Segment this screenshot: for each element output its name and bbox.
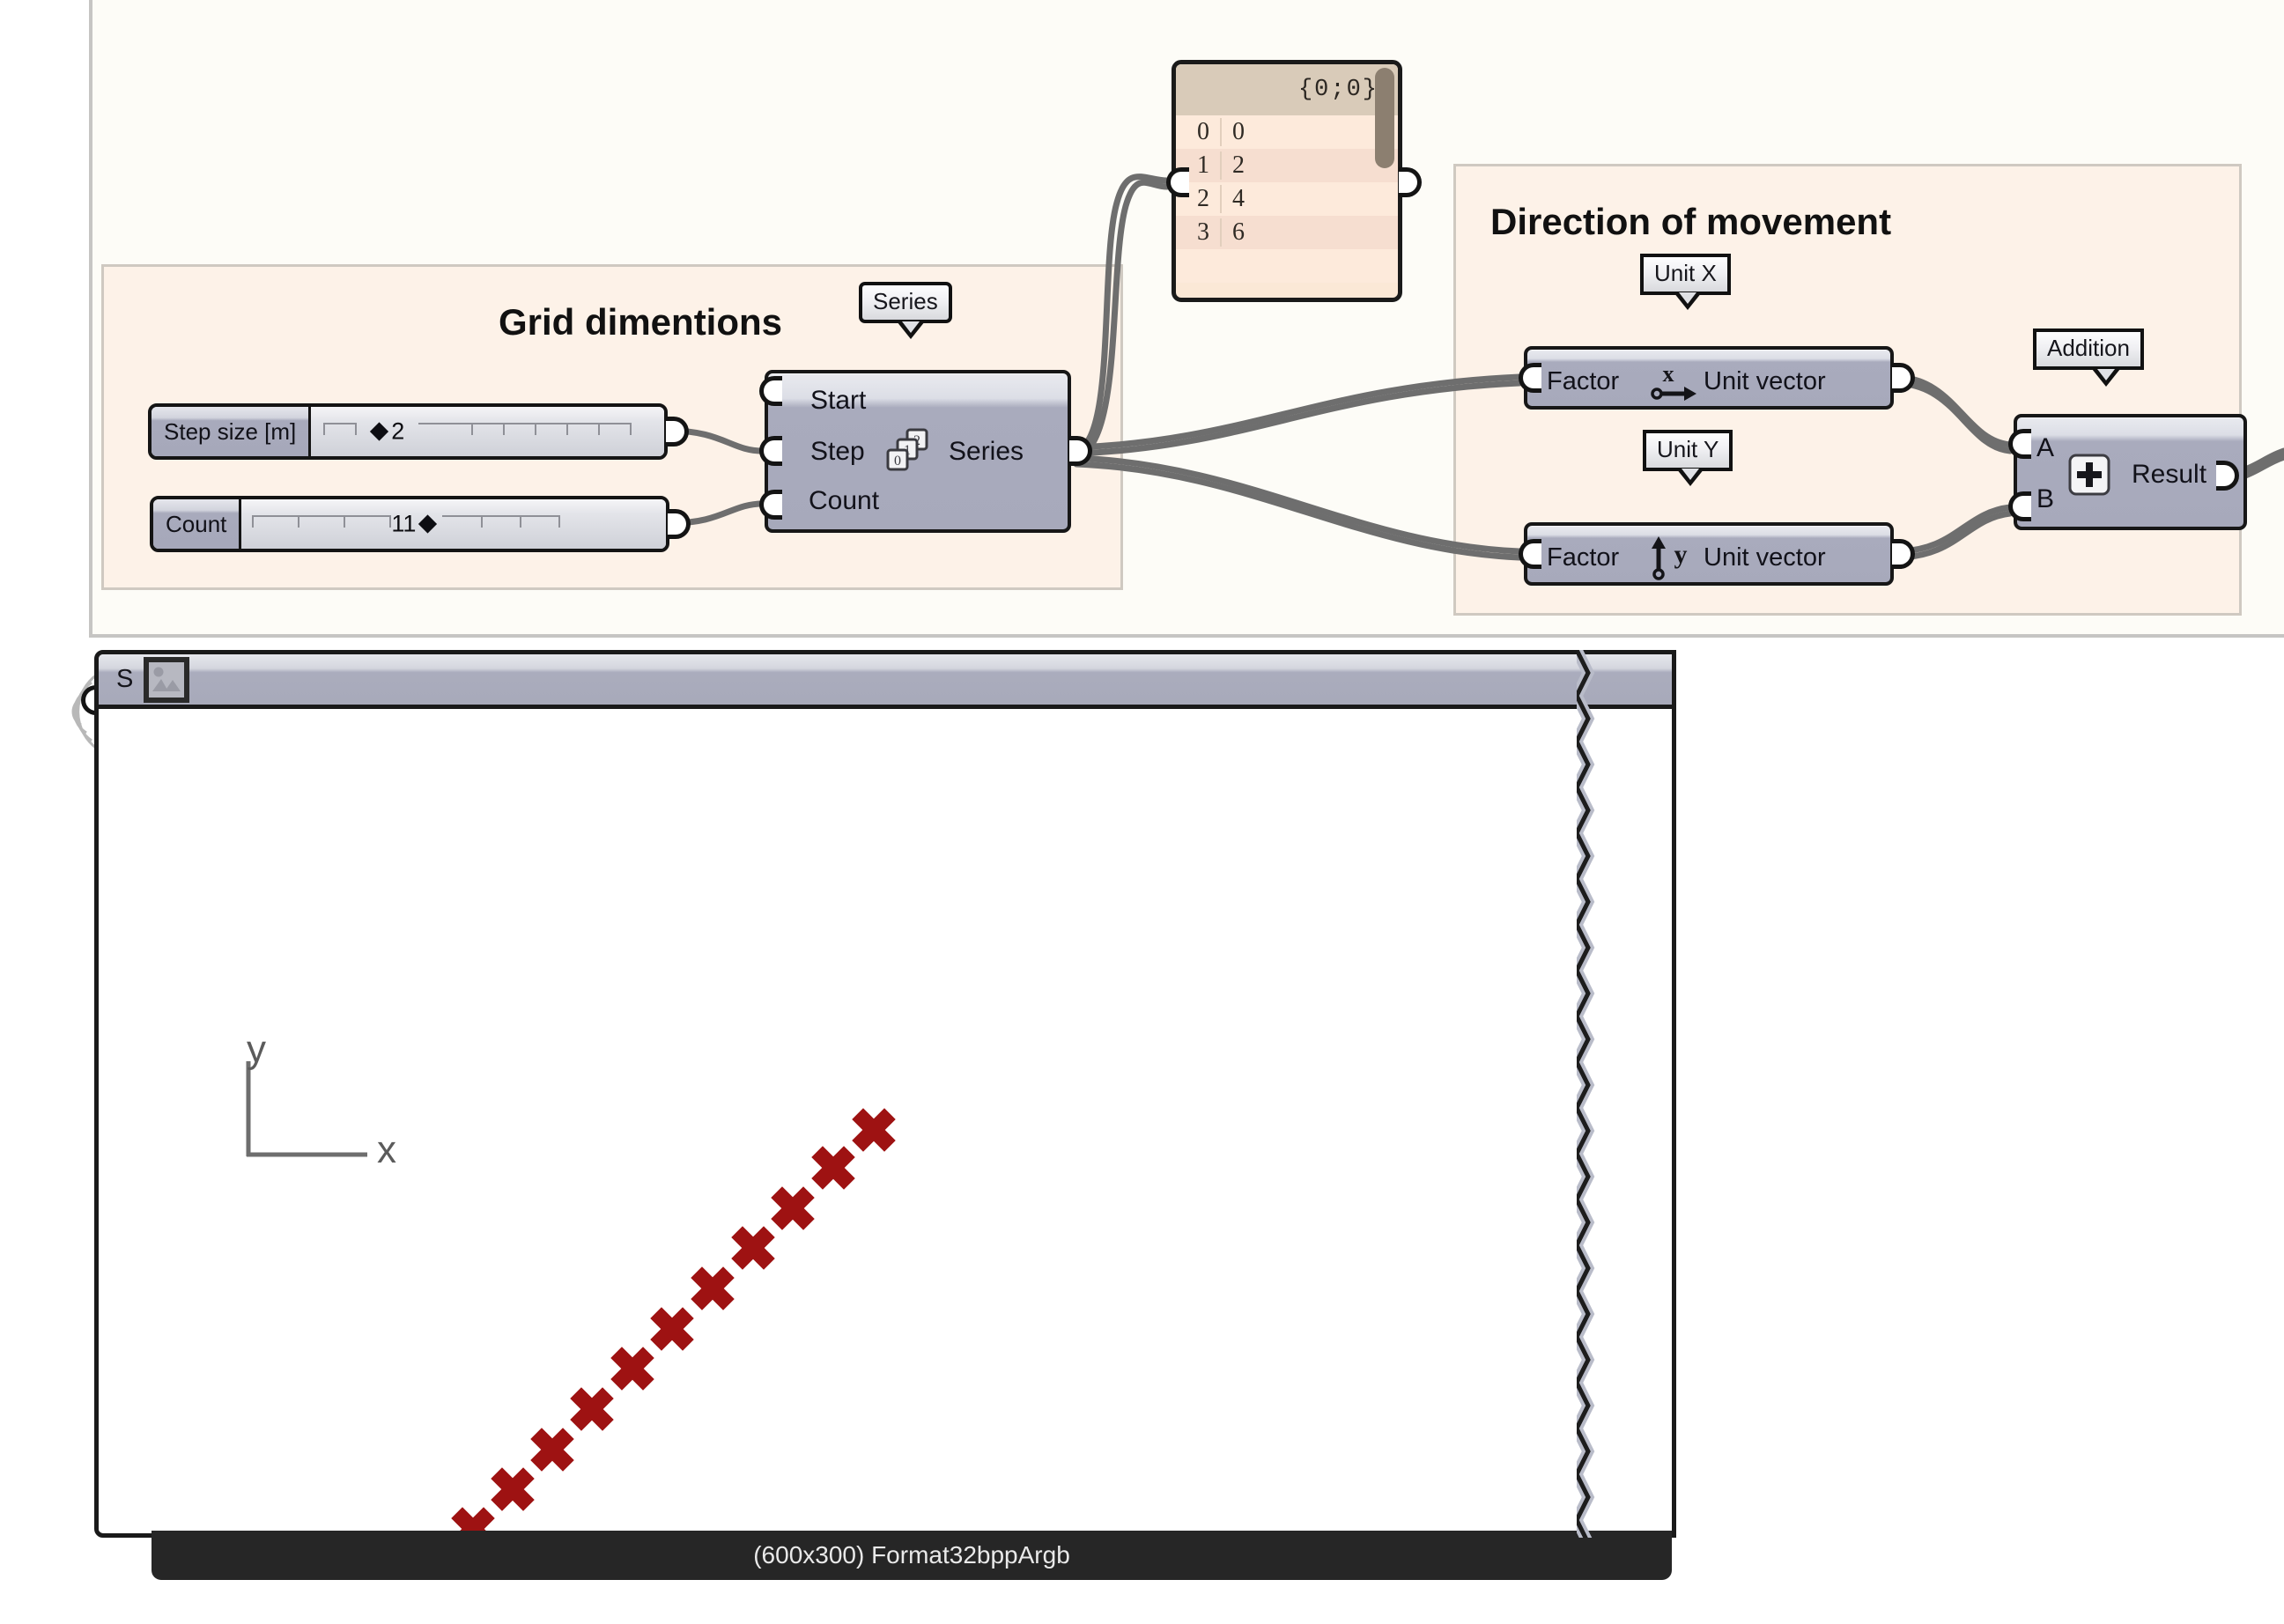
panel-row-value: 0 bbox=[1222, 118, 1245, 146]
scatter-marker bbox=[771, 1186, 815, 1230]
series-nickname-label: Series bbox=[873, 288, 938, 314]
slider-step-size-value: 2 bbox=[391, 418, 404, 446]
screenshot-root: Grid dimentions Direction of movement bbox=[0, 0, 2284, 1624]
panel-row-index: 0 bbox=[1176, 118, 1222, 146]
slider-count[interactable]: Count 11 bbox=[150, 496, 669, 552]
slider-tick bbox=[471, 423, 503, 424]
slider-count-track[interactable]: 11 bbox=[241, 499, 666, 549]
slider-tick bbox=[566, 423, 568, 435]
slider-step-size-label: Step size [m] bbox=[152, 407, 311, 456]
series-input-start: Start bbox=[810, 386, 866, 416]
unit-y-input-factor: Factor bbox=[1547, 543, 1619, 572]
series-input-step: Step bbox=[810, 437, 865, 467]
addition-nickname-tail bbox=[2092, 369, 2120, 387]
addition-nickname-label: Addition bbox=[2047, 335, 2130, 361]
slider-tick bbox=[503, 423, 535, 424]
viewer-status-text: (600x300) Format32bppArgb bbox=[753, 1541, 1070, 1569]
viewer-status-bar: (600x300) Format32bppArgb bbox=[152, 1531, 1672, 1580]
panel-row-value: 6 bbox=[1222, 218, 1245, 247]
scatter-marker bbox=[691, 1266, 735, 1310]
unit-y-output-unit-vector: Unit vector bbox=[1704, 543, 1826, 572]
scatter-marker bbox=[570, 1387, 614, 1431]
slider-tick bbox=[558, 515, 560, 528]
addition-output-result: Result bbox=[2132, 460, 2206, 490]
unit-x-output-unit-vector: Unit vector bbox=[1704, 367, 1826, 396]
viewer-header[interactable]: S bbox=[99, 654, 1672, 709]
panel-row-value: 4 bbox=[1222, 185, 1245, 213]
slider-tick bbox=[298, 515, 344, 517]
scatter-marker bbox=[451, 1507, 495, 1532]
slider-tick bbox=[252, 515, 298, 517]
panel-row: 1 2 bbox=[1176, 149, 1398, 182]
scatter-marker bbox=[731, 1226, 775, 1270]
slider-step-size-value-group: 2 bbox=[373, 418, 404, 446]
series-port-count[interactable] bbox=[759, 490, 782, 520]
image-icon bbox=[144, 657, 189, 703]
slider-tick bbox=[535, 423, 536, 435]
slider-tick bbox=[535, 423, 566, 424]
panel-row-index: 3 bbox=[1176, 218, 1222, 247]
slider-handle-diamond[interactable] bbox=[370, 422, 388, 440]
series-nickname-tail bbox=[897, 321, 925, 339]
addition-input-a: A bbox=[2036, 433, 2054, 463]
unit-x-nickname-balloon[interactable]: Unit X bbox=[1640, 254, 1731, 295]
unit-y-component[interactable]: Factor Unit vector y bbox=[1524, 522, 1894, 586]
series-port-step[interactable] bbox=[759, 436, 782, 466]
unit-y-nickname-tail bbox=[1676, 469, 1704, 486]
slider-handle-diamond[interactable] bbox=[418, 514, 437, 533]
slider-tick bbox=[503, 423, 505, 435]
slider-tick bbox=[598, 423, 630, 424]
unit-x-nickname-label: Unit X bbox=[1654, 260, 1717, 286]
series-output-series: Series bbox=[949, 437, 1024, 467]
slider-step-size[interactable]: Step size [m] 2 bbox=[148, 403, 668, 460]
scatter-marker bbox=[811, 1146, 855, 1190]
panel-row-value: 2 bbox=[1222, 151, 1245, 180]
unit-y-port-factor[interactable] bbox=[1519, 539, 1541, 569]
slider-tick bbox=[598, 423, 600, 435]
unit-y-nickname-label: Unit Y bbox=[1657, 436, 1719, 462]
slider-count-label: Count bbox=[153, 499, 241, 549]
addition-port-b[interactable] bbox=[2008, 491, 2031, 521]
scatter-marker bbox=[610, 1347, 654, 1391]
unit-x-arrow-icon: x bbox=[1649, 358, 1698, 404]
panel-row-blank bbox=[1176, 249, 1398, 283]
slider-tick bbox=[298, 515, 299, 528]
addition-input-b: B bbox=[2036, 484, 2054, 514]
panel-path-text: {0;0} bbox=[1298, 77, 1379, 103]
panel-path-header: {0;0} bbox=[1176, 64, 1398, 115]
series-port-start[interactable] bbox=[759, 376, 782, 406]
slider-step-size-track[interactable]: 2 bbox=[311, 407, 664, 456]
slider-tick bbox=[418, 423, 471, 424]
slider-tick bbox=[344, 515, 389, 517]
addition-port-a[interactable] bbox=[2008, 429, 2031, 459]
slider-tick bbox=[481, 515, 483, 528]
series-component[interactable]: Start Step Count Series 2 1 0 bbox=[765, 370, 1071, 533]
viewer-plot-canvas[interactable]: y x bbox=[99, 709, 1672, 1532]
slider-count-value: 11 bbox=[391, 511, 416, 538]
slider-count-value-group: 11 bbox=[391, 511, 434, 538]
slider-tick bbox=[252, 515, 254, 528]
panel-row: 0 0 bbox=[1176, 115, 1398, 149]
slider-tick bbox=[630, 423, 632, 435]
scatter-plot-markers bbox=[99, 709, 1672, 1532]
slider-tick bbox=[520, 515, 558, 517]
unit-y-arrow-icon: y bbox=[1647, 533, 1698, 582]
panel-scrollbar[interactable] bbox=[1375, 68, 1394, 168]
svg-text:x: x bbox=[1663, 361, 1674, 387]
viewer-torn-edge bbox=[1577, 650, 1603, 1538]
slider-tick bbox=[344, 515, 345, 528]
series-input-count: Count bbox=[809, 486, 879, 516]
slider-tick bbox=[471, 423, 473, 435]
scatter-marker bbox=[530, 1428, 574, 1472]
slider-tick bbox=[323, 423, 325, 435]
series-nickname-balloon[interactable]: Series bbox=[859, 282, 952, 323]
addition-nickname-balloon[interactable]: Addition bbox=[2033, 328, 2144, 370]
unit-y-nickname-balloon[interactable]: Unit Y bbox=[1643, 430, 1733, 471]
data-panel[interactable]: {0;0} 0 0 1 2 2 4 3 6 bbox=[1172, 60, 1402, 302]
group-direction-of-movement-title: Direction of movement bbox=[1490, 201, 1891, 243]
unit-x-input-factor: Factor bbox=[1547, 367, 1619, 396]
panel-row: 2 4 bbox=[1176, 182, 1398, 216]
group-grid-dimensions-title: Grid dimentions bbox=[499, 301, 782, 343]
image-viewer[interactable]: S y x bbox=[94, 650, 1676, 1538]
slider-tick bbox=[520, 515, 521, 528]
addition-component[interactable]: A B Result bbox=[2014, 414, 2247, 530]
canvas-bottom-edge bbox=[89, 634, 2284, 638]
plus-icon bbox=[2067, 453, 2111, 497]
scatter-marker bbox=[650, 1307, 694, 1351]
unit-x-nickname-tail bbox=[1674, 292, 1702, 310]
slider-tick bbox=[355, 423, 357, 435]
unit-x-component[interactable]: Factor Unit vector x bbox=[1524, 346, 1894, 410]
svg-text:y: y bbox=[1674, 540, 1688, 569]
unit-x-port-factor[interactable] bbox=[1519, 363, 1541, 393]
slider-tick bbox=[323, 423, 355, 424]
scatter-marker bbox=[852, 1108, 896, 1152]
svg-text:0: 0 bbox=[894, 454, 901, 469]
viewer-frame: S y x bbox=[94, 650, 1676, 1538]
slider-tick bbox=[566, 423, 598, 424]
scatter-marker bbox=[491, 1467, 535, 1511]
panel-input-port[interactable] bbox=[1166, 167, 1189, 197]
panel-row: 3 6 bbox=[1176, 216, 1398, 249]
slider-tick bbox=[481, 515, 520, 517]
viewer-input-label: S bbox=[116, 665, 133, 694]
slider-tick bbox=[442, 515, 481, 517]
series-012-icon: 2 1 0 bbox=[885, 428, 936, 483]
